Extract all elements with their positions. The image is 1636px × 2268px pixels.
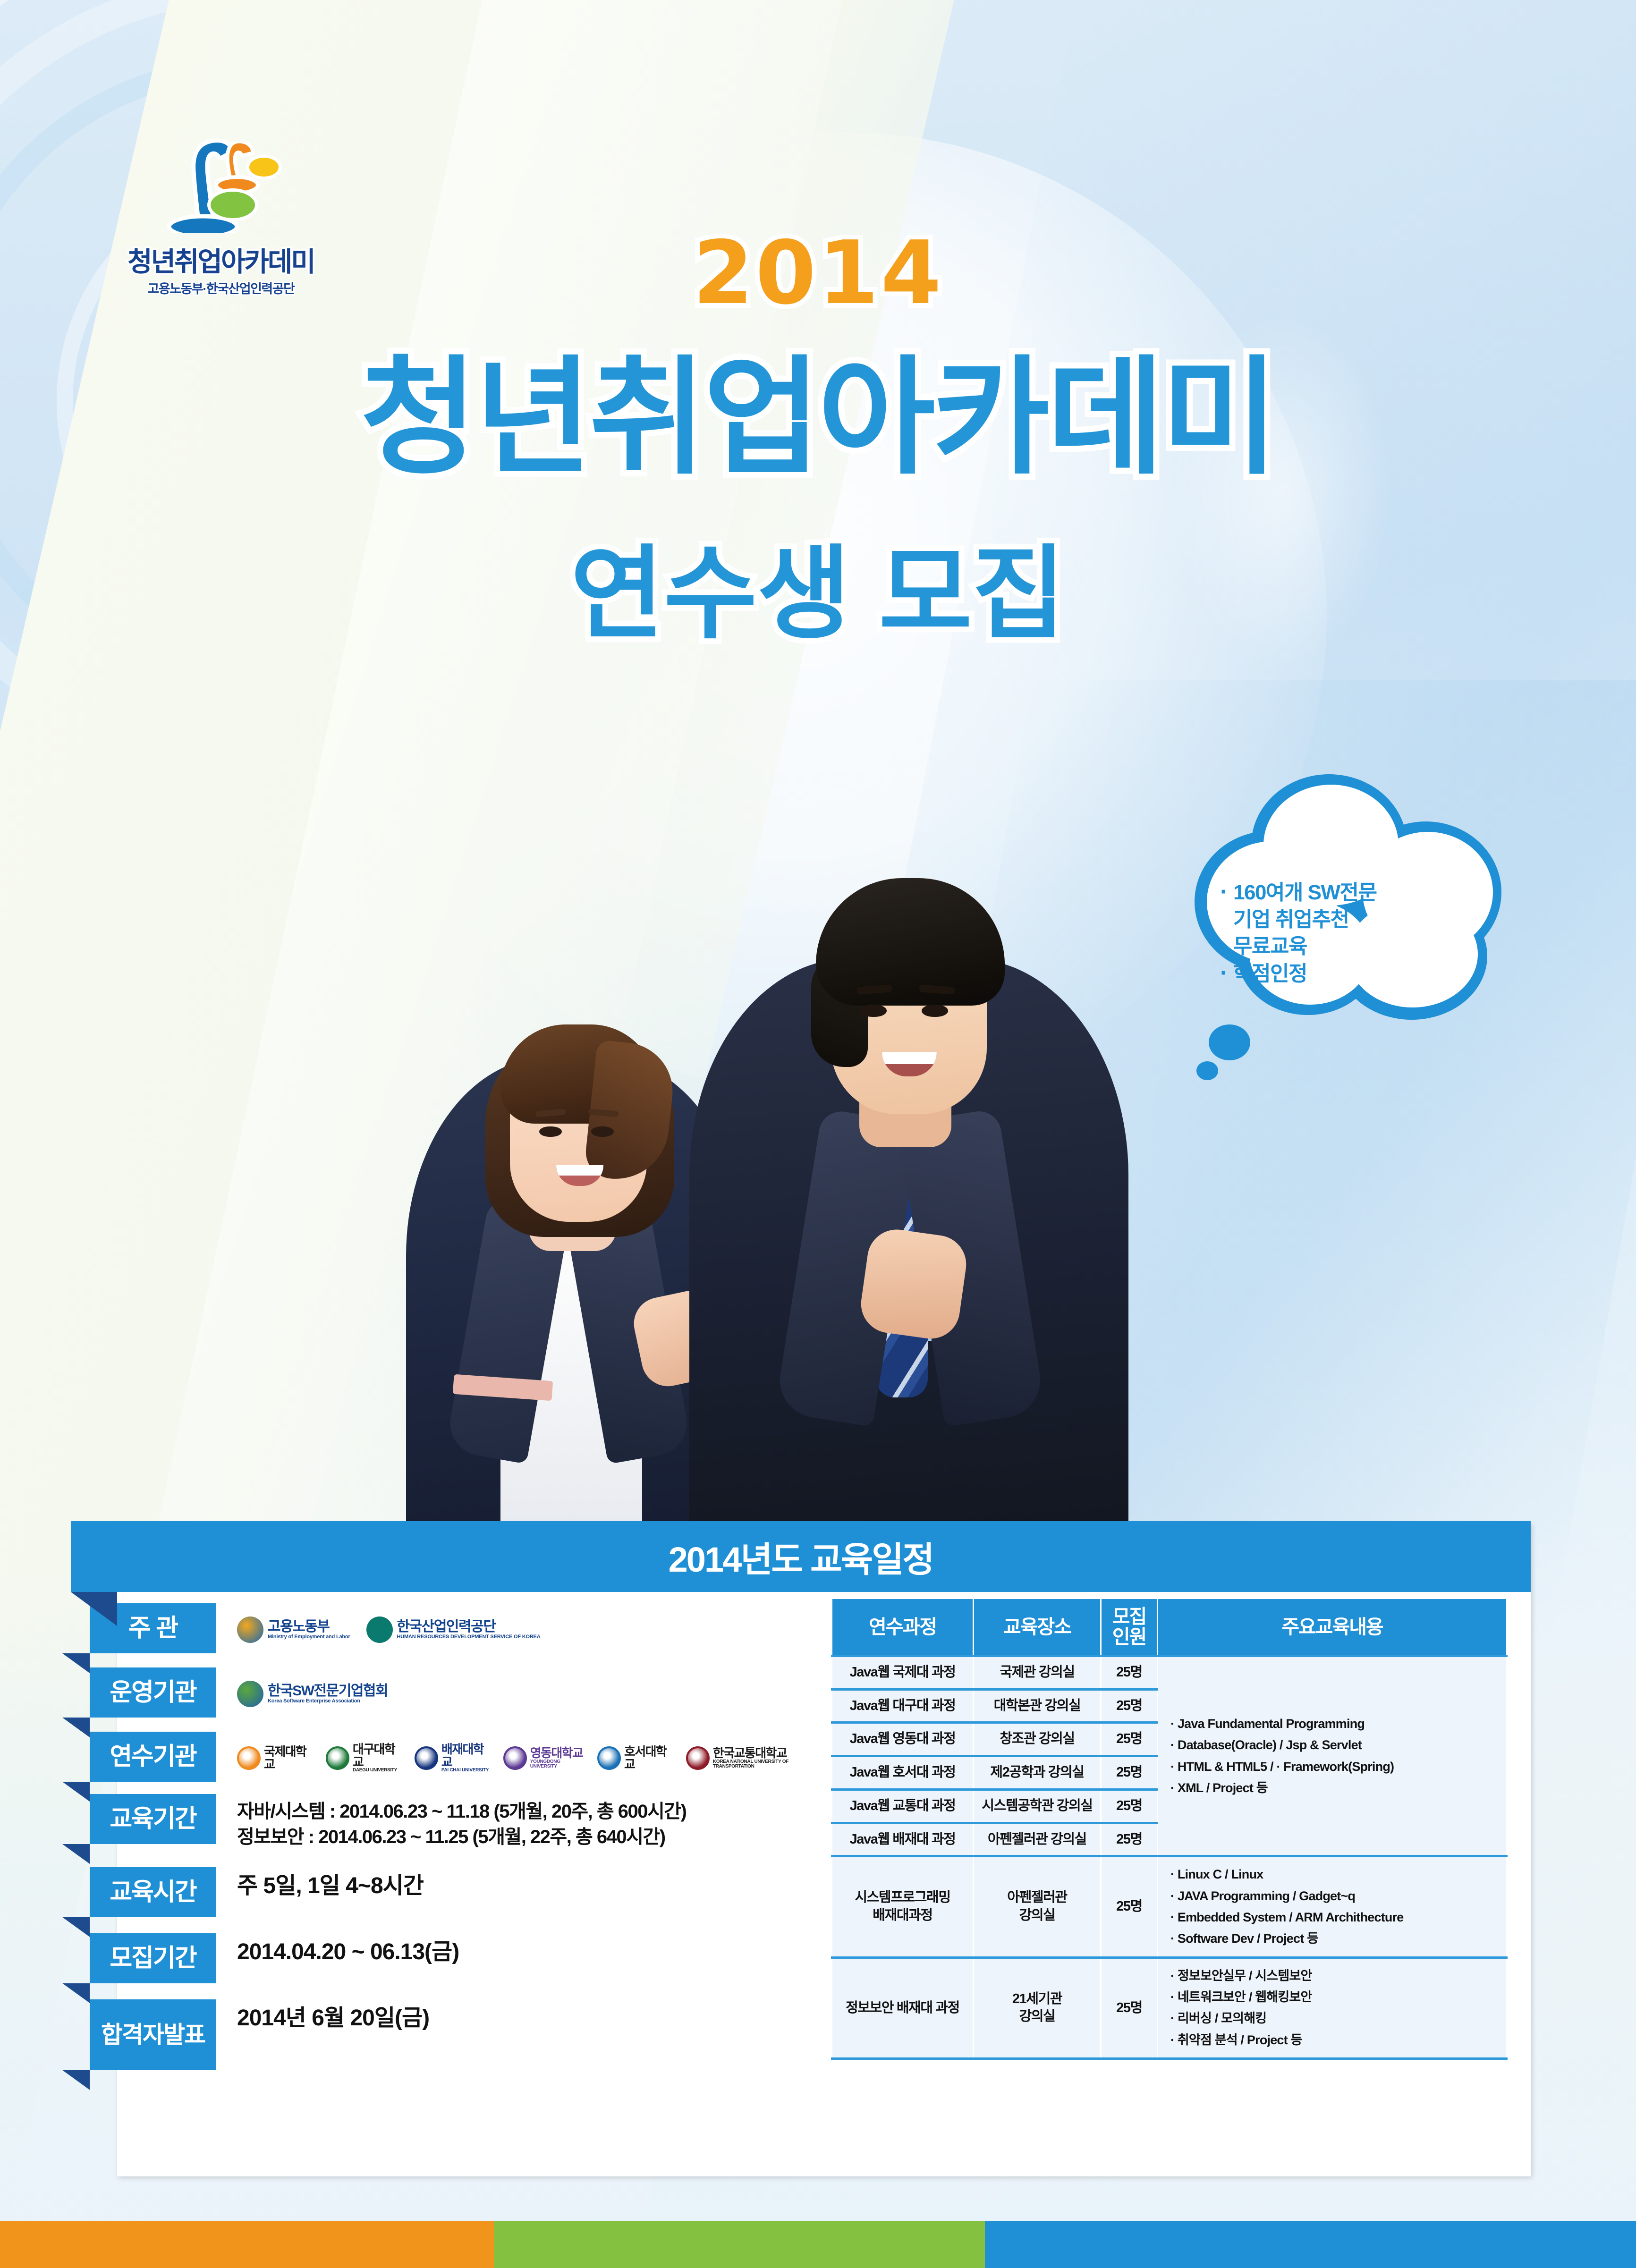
table-cell-course: 정보보안 배재대 과정 <box>832 1957 974 2058</box>
table-cell-seats: 25명 <box>1101 1957 1158 2058</box>
org-name-en: Ministry of Employment and Labor <box>268 1634 350 1640</box>
info-row-label: 교육시간 <box>90 1867 216 1917</box>
university-seal-icon <box>237 1746 261 1770</box>
description-line: · Embedded System / ARM Archithecture <box>1170 1907 1503 1928</box>
table-cell-description: · Linux C / Linux· JAVA Programming / Ga… <box>1158 1856 1507 1957</box>
info-row-label: 모집기간 <box>90 1933 216 1983</box>
description-line: · 취약점 분석 / Project 등 <box>1170 2030 1503 2051</box>
org-name-en: Korea Software Enterprise Association <box>268 1699 388 1704</box>
organization-logo: 고용노동부Ministry of Employment and Labor <box>237 1616 350 1643</box>
university-name: 국제대학교 <box>264 1745 314 1770</box>
table-cell-place: 아펜젤러관강의실 <box>974 1856 1101 1957</box>
university-seal-icon <box>686 1746 710 1770</box>
university-seal-icon <box>326 1746 349 1770</box>
info-row: 운영기관한국SW전문기업협회Korea Software Enterprise … <box>117 1667 825 1718</box>
benefit-item: 학점인정 <box>1233 960 1455 987</box>
info-row-spacer <box>117 2070 825 2086</box>
benefit-item: 무료교육 <box>1233 933 1455 960</box>
info-row-spacer <box>117 1917 825 1933</box>
info-row-label: 연수기관 <box>90 1732 216 1782</box>
org-name: 고용노동부Ministry of Employment and Labor <box>268 1620 350 1640</box>
description-line: · Linux C / Linux <box>1170 1864 1503 1885</box>
table-cell-seats: 25명 <box>1101 1723 1158 1756</box>
table-cell-seats: 25명 <box>1101 1856 1158 1957</box>
table-body: Java웹 국제대 과정국제관 강의실25명· Java Fundamental… <box>832 1656 1507 2059</box>
university-name-en: DAEGU UNIVERSITY <box>353 1768 402 1773</box>
description-line: · Software Dev / Project 등 <box>1170 1928 1503 1949</box>
hero-subtitle: 연수생 모집 <box>0 538 1636 650</box>
org-emblem-icon <box>237 1681 263 1707</box>
university-name-en: YOUNGDONG UNIVERSITY <box>530 1760 585 1769</box>
schedule-card: 2014년도 교육일정 주 관고용노동부Ministry of Employme… <box>117 1523 1531 2176</box>
university-name: 배재대학교PAI CHAI UNIVERSITY <box>441 1743 491 1773</box>
info-row: 합격자발표2014년 6월 20일(금) <box>117 1999 825 2070</box>
benefit-item: 기업 취업추천 <box>1233 906 1455 933</box>
info-row-spacer <box>117 1653 825 1667</box>
description-line: · 리버싱 / 모의해킹 <box>1170 2008 1503 2029</box>
schedule-table: 연수과정교육장소모집인원주요교육내용 Java웹 국제대 과정국제관 강의실25… <box>831 1598 1508 2060</box>
benefits-list: 160여개 SW전문 기업 취업추천 무료교육 학점인정 <box>1233 879 1455 987</box>
info-text-value: 2014년 6월 20일(금) <box>237 2004 825 2032</box>
university-logo: 영동대학교YOUNGDONG UNIVERSITY <box>503 1746 585 1770</box>
table-cell-seats: 25명 <box>1101 1656 1158 1690</box>
table-column-header: 모집인원 <box>1101 1599 1158 1656</box>
hero-year: 2014 <box>0 222 1636 324</box>
info-row-value: 고용노동부Ministry of Employment and Labor한국산… <box>216 1603 825 1643</box>
organization-logo: 한국SW전문기업협회Korea Software Enterprise Asso… <box>237 1681 388 1707</box>
info-row-value: 주 5일, 1일 4~8시간 <box>216 1867 825 1900</box>
schedule-banner-title: 2014년도 교육일정 <box>669 1532 933 1582</box>
info-row-label: 운영기관 <box>90 1667 216 1718</box>
university-name: 한국교통대학교KOREA NATIONAL UNIVERSITY OF TRAN… <box>713 1747 825 1769</box>
university-name: 호서대학교 <box>624 1745 674 1770</box>
schedule-table-wrap: 연수과정교육장소모집인원주요교육내용 Java웹 국제대 과정국제관 강의실25… <box>831 1598 1506 2060</box>
description-line: · HTML & HTML5 / · Framework(Spring) <box>1170 1756 1503 1777</box>
info-row: 모집기간2014.04.20 ~ 06.13(금) <box>117 1933 825 1983</box>
info-text-value: 2014.04.20 ~ 06.13(금) <box>237 1938 825 1966</box>
description-line: · 네트워크보안 / 웹해킹보안 <box>1170 1987 1503 2008</box>
table-cell-description: · 정보보안실무 / 시스템보안· 네트워크보안 / 웹해킹보안· 리버싱 / … <box>1158 1957 1507 2058</box>
bottom-color-bar <box>0 2221 1636 2268</box>
table-cell-place: 국제관 강의실 <box>974 1656 1101 1690</box>
logo-yellow-dot-icon <box>249 158 279 177</box>
table-row: Java웹 국제대 과정국제관 강의실25명· Java Fundamental… <box>832 1656 1507 1690</box>
university-seal-icon <box>597 1746 621 1770</box>
university-name-en: PAI CHAI UNIVERSITY <box>441 1768 491 1773</box>
info-row: 주 관고용노동부Ministry of Employment and Labor… <box>117 1603 825 1653</box>
university-name: 대구대학교DAEGU UNIVERSITY <box>353 1743 402 1773</box>
org-name-en: HUMAN RESOURCES DEVELOPMENT SERVICE OF K… <box>397 1634 541 1640</box>
table-cell-description: · Java Fundamental Programming· Database… <box>1158 1656 1507 1856</box>
org-emblem-icon <box>366 1616 393 1643</box>
info-row: 교육시간주 5일, 1일 4~8시간 <box>117 1867 825 1917</box>
logo-green-dot-icon <box>211 192 255 218</box>
description-line: · JAVA Programming / Gadget~q <box>1170 1886 1503 1907</box>
info-row-value: 한국SW전문기업협회Korea Software Enterprise Asso… <box>216 1667 825 1707</box>
schedule-banner: 2014년도 교육일정 <box>71 1521 1531 1592</box>
table-cell-place: 21세기관강의실 <box>974 1957 1101 2058</box>
bubble-tail-large <box>1209 1024 1250 1060</box>
table-column-header: 연수과정 <box>832 1599 974 1656</box>
table-column-header: 교육장소 <box>974 1599 1101 1656</box>
table-cell-course: Java웹 호서대 과정 <box>832 1756 974 1790</box>
table-cell-course: Java웹 교통대 과정 <box>832 1789 974 1823</box>
description-line: · Java Fundamental Programming <box>1170 1713 1503 1735</box>
table-cell-place: 대학본관 강의실 <box>974 1689 1101 1723</box>
table-cell-course: Java웹 영동대 과정 <box>832 1723 974 1756</box>
table-cell-seats: 25명 <box>1101 1756 1158 1790</box>
info-row-value: 국제대학교대구대학교DAEGU UNIVERSITY배재대학교PAI CHAI … <box>216 1732 825 1773</box>
description-line: · 정보보안실무 / 시스템보안 <box>1170 1965 1503 1987</box>
table-cell-seats: 25명 <box>1101 1689 1158 1723</box>
info-row: 연수기관국제대학교대구대학교DAEGU UNIVERSITY배재대학교PAI C… <box>117 1732 825 1782</box>
org-name: 한국SW전문기업협회Korea Software Enterprise Asso… <box>268 1684 388 1704</box>
info-row-spacer <box>117 1782 825 1794</box>
info-row-spacer <box>117 1850 825 1867</box>
info-list: 주 관고용노동부Ministry of Employment and Labor… <box>117 1603 825 2086</box>
university-logo: 호서대학교 <box>597 1745 674 1770</box>
table-cell-seats: 25명 <box>1101 1823 1158 1856</box>
university-name: 영동대학교YOUNGDONG UNIVERSITY <box>530 1747 585 1769</box>
info-row-value: 2014.04.20 ~ 06.13(금) <box>216 1933 825 1966</box>
description-line: · Database(Oracle) / Jsp & Servlet <box>1170 1735 1503 1756</box>
university-seal-icon <box>415 1746 438 1770</box>
table-row: 정보보안 배재대 과정21세기관강의실25명· 정보보안실무 / 시스템보안· … <box>832 1957 1507 2058</box>
info-row: 교육기간자바/시스템 : 2014.06.23 ~ 11.18 (5개월, 20… <box>117 1794 825 1850</box>
bubble-tail-small <box>1196 1061 1218 1080</box>
table-column-header: 주요교육내용 <box>1158 1599 1507 1656</box>
org-emblem-icon <box>237 1616 263 1643</box>
table-cell-place: 제2공학과 강의실 <box>974 1756 1101 1790</box>
info-text-value: 주 5일, 1일 4~8시간 <box>237 1872 825 1900</box>
colorbar-blue <box>985 2221 1636 2268</box>
table-cell-place: 시스템공학관 강의실 <box>974 1789 1101 1823</box>
university-logo: 배재대학교PAI CHAI UNIVERSITY <box>415 1743 491 1773</box>
organization-logo: 한국산업인력공단HUMAN RESOURCES DEVELOPMENT SERV… <box>366 1616 541 1643</box>
table-cell-course: Java웹 배재대 과정 <box>832 1823 974 1856</box>
info-row-value: 자바/시스템 : 2014.06.23 ~ 11.18 (5개월, 20주, 총… <box>216 1794 825 1850</box>
table-cell-course: 시스템프로그래밍배재대과정 <box>832 1856 974 1957</box>
table-cell-course: Java웹 대구대 과정 <box>832 1689 974 1723</box>
info-row-value: 2014년 6월 20일(금) <box>216 1999 825 2032</box>
table-cell-place: 아펜젤러관 강의실 <box>974 1823 1101 1856</box>
info-text-line: 정보보안 : 2014.06.23 ~ 11.25 (5개월, 22주, 총 6… <box>237 1824 825 1850</box>
info-row-label: 합격자발표 <box>90 1999 216 2070</box>
colorbar-orange <box>0 2221 494 2268</box>
table-cell-place: 창조관 강의실 <box>974 1723 1101 1756</box>
info-text-line: 자바/시스템 : 2014.06.23 ~ 11.18 (5개월, 20주, 총… <box>237 1799 825 1824</box>
org-name: 한국산업인력공단HUMAN RESOURCES DEVELOPMENT SERV… <box>397 1620 541 1640</box>
benefits-thought-bubble: 160여개 SW전문 기업 취업추천 무료교육 학점인정 <box>1180 774 1511 1076</box>
university-logo: 국제대학교 <box>237 1745 314 1770</box>
benefit-item: 160여개 SW전문 <box>1233 879 1455 906</box>
description-line: · XML / Project 등 <box>1170 1777 1503 1799</box>
university-seal-icon <box>503 1746 527 1770</box>
hero-title: 청년취업아카데미 <box>0 349 1636 487</box>
info-row-label: 교육기간 <box>90 1794 216 1844</box>
students-photo <box>359 736 1204 1539</box>
university-name-en: KOREA NATIONAL UNIVERSITY OF TRANSPORTAT… <box>713 1760 825 1769</box>
table-cell-seats: 25명 <box>1101 1789 1158 1823</box>
table-cell-course: Java웹 국제대 과정 <box>832 1656 974 1690</box>
colorbar-green <box>494 2221 985 2268</box>
table-header-row: 연수과정교육장소모집인원주요교육내용 <box>832 1599 1507 1656</box>
table-row: 시스템프로그래밍배재대과정아펜젤러관강의실25명· Linux C / Linu… <box>832 1856 1507 1957</box>
info-row-spacer <box>117 1718 825 1732</box>
university-logo: 한국교통대학교KOREA NATIONAL UNIVERSITY OF TRAN… <box>686 1746 825 1770</box>
info-row-spacer <box>117 1983 825 1999</box>
university-logo: 대구대학교DAEGU UNIVERSITY <box>326 1743 402 1773</box>
